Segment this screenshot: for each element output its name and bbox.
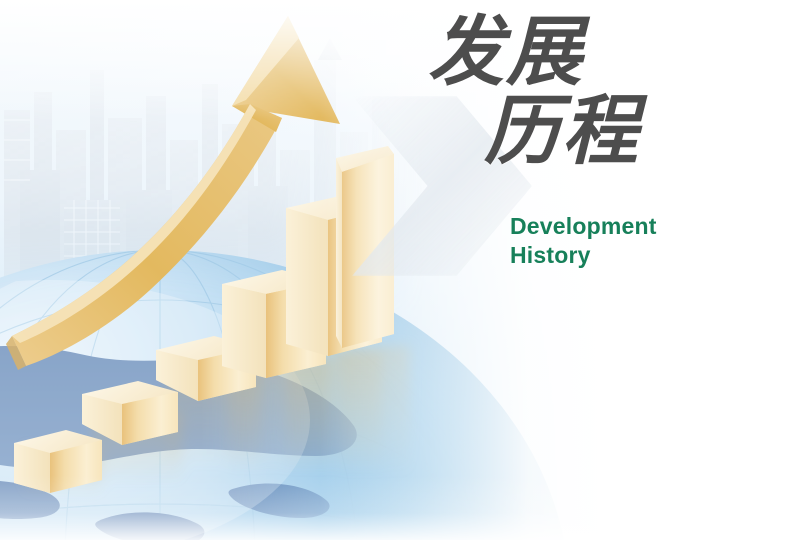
development-history-banner: 发展 历程 Development History (0, 0, 800, 540)
page-title-en: Development History (510, 212, 657, 271)
page-title-cjk: 发展 历程 (424, 16, 724, 168)
page-title-en-line1: Development (510, 212, 657, 241)
page-title-cjk-line1: 发展 (424, 16, 724, 89)
heading-block: 发展 历程 (424, 16, 724, 168)
page-title-en-line2: History (510, 241, 657, 270)
page-title-cjk-line2: 历程 (424, 95, 724, 168)
